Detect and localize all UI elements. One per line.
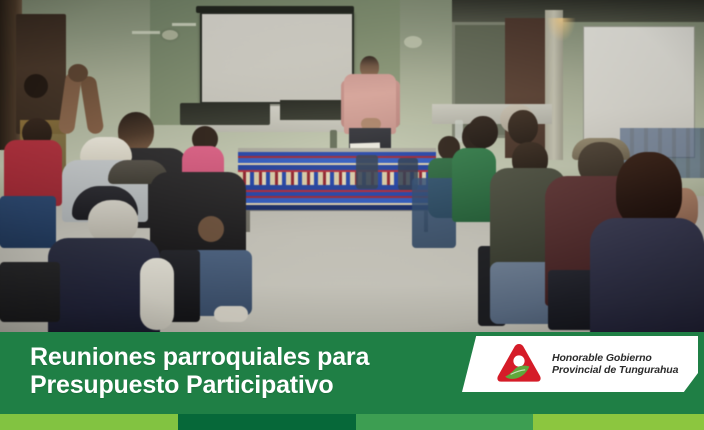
attendee-front-navy-shirt [590,218,704,332]
water-bottle-1 [330,130,337,150]
bottom-color-strip [0,414,704,430]
segment-light-green-left [0,414,178,430]
attendee-dark-hand [198,216,224,242]
chair-left-2 [0,262,60,322]
chair-left-1 [0,196,56,248]
ceiling-beam [452,0,704,22]
banner-image: Reuniones parroquiales para Presupuesto … [0,0,704,430]
logo-text: Honorable Gobierno Provincial de Tungura… [552,352,678,377]
empty-chair-1 [356,155,378,189]
logo-plaque: Honorable Gobierno Provincial de Tungura… [462,336,698,392]
tungurahua-volcano-triangle-logo [496,343,542,385]
wall-fixture-2 [404,36,422,48]
attendee-right-head-2 [508,110,538,144]
segment-dark-green [178,414,356,430]
loudspeaker [16,14,66,134]
attendee-white-sleeve [140,258,174,330]
projector-screen [200,12,354,104]
wall-sign-1 [132,31,160,34]
attendee-shoe [214,306,248,322]
blue-chair-far [412,178,456,248]
attendee-front-hair [616,152,682,228]
meeting-photo [0,0,704,332]
banner-title: Reuniones parroquiales para Presupuesto … [30,343,369,399]
table-leg-left [246,210,250,232]
wall-sign-2 [172,23,196,26]
segment-light-green-right [533,414,704,430]
av-equipment-2 [280,100,350,120]
attendee-right-head-1 [468,116,498,148]
tablecloth-shadow [238,205,436,211]
wall-fixture-1 [162,30,178,40]
clasped-hands [68,64,88,82]
av-equipment-1 [180,103,270,125]
segment-medium-green [356,414,533,430]
wall-lamp-glow [546,18,576,42]
